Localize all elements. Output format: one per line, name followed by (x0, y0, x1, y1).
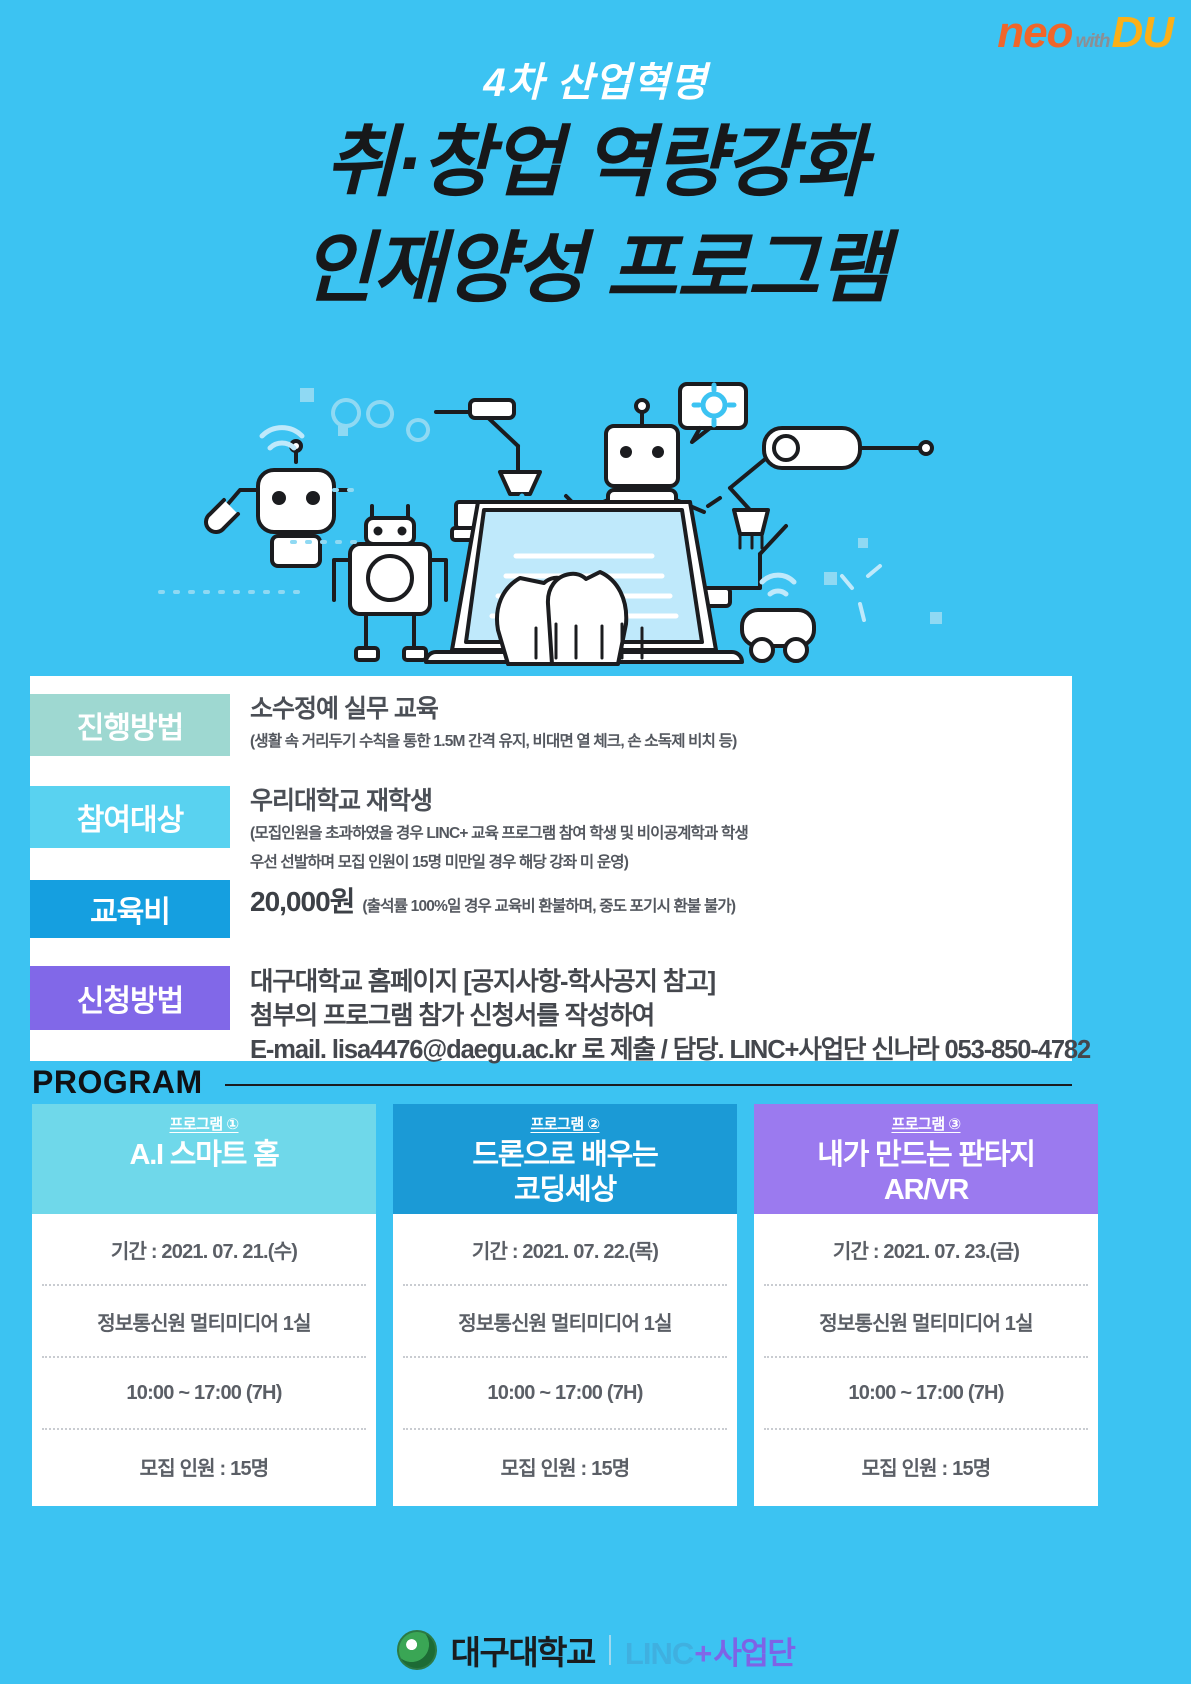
program-card-1-period: 기간 : 2021. 07. 21.(수) (42, 1214, 366, 1286)
info-sub-method: (생활 속 거리두기 수칙을 통한 1.5M 간격 유지, 비대면 열 체크, … (250, 730, 736, 754)
program-card-1-body: 기간 : 2021. 07. 21.(수) 정보통신원 멀티미디어 1실 10:… (32, 1214, 376, 1506)
program-card-3-body: 기간 : 2021. 07. 23.(금) 정보통신원 멀티미디어 1실 10:… (754, 1214, 1098, 1506)
program-card-2-header: 프로그램 ② 드론으로 배우는 코딩세상 (393, 1104, 737, 1214)
program-card-2-title-line2: 코딩세상 (514, 1174, 616, 1206)
university-emblem-icon (397, 1630, 437, 1670)
program-card-2-title-line1: 드론으로 배우는 (472, 1139, 657, 1171)
program-card-2-body: 기간 : 2021. 07. 22.(목) 정보통신원 멀티미디어 1실 10:… (393, 1214, 737, 1506)
info-tag-apply: 신청방법 (30, 966, 230, 1030)
info-tag-fee: 교육비 (30, 880, 230, 938)
info-row-target: 참여대상 우리대학교 재학생 (모집인원을 초과하였을 경우 LINC+ 교육 … (30, 786, 748, 875)
program-heading-rule (225, 1084, 1072, 1086)
program-card-3-title-line2: AR/VR (884, 1174, 968, 1206)
info-body-apply: 대구대학교 홈페이지 [공지사항-학사공지 참고] 첨부의 프로그램 참가 신청… (230, 966, 1090, 1068)
logo-neo-text: neo (997, 8, 1072, 58)
info-row-apply: 신청방법 대구대학교 홈페이지 [공지사항-학사공지 참고] 첨부의 프로그램 … (30, 966, 1090, 1068)
program-card-3-header: 프로그램 ③ 내가 만드는 판타지 AR/VR (754, 1104, 1098, 1214)
info-body-target: 우리대학교 재학생 (모집인원을 초과하였을 경우 LINC+ 교육 프로그램 … (230, 786, 748, 875)
program-card-2-time: 10:00 ~ 17:00 (7H) (403, 1358, 727, 1430)
info-panel: 진행방법 소수정예 실무 교육 (생활 속 거리두기 수칙을 통한 1.5M 간… (30, 676, 1072, 1061)
footer-logos: 대구대학교 LINC + 사업단 (0, 1626, 1191, 1674)
program-card-list: 프로그램 ① A.I 스마트 홈 기간 : 2021. 07. 21.(수) 정… (32, 1104, 1160, 1506)
program-card-1-quota: 모집 인원 : 15명 (42, 1430, 366, 1502)
program-card-2-title: 드론으로 배우는 코딩세상 (472, 1138, 657, 1208)
program-card-1[interactable]: 프로그램 ① A.I 스마트 홈 기간 : 2021. 07. 21.(수) 정… (32, 1104, 376, 1506)
info-sub-target-line2: 우선 선발하며 모집 인원이 15명 미만일 경우 해당 강좌 미 운영) (250, 851, 748, 875)
neo-with-du-logo: neo with DU (997, 8, 1173, 58)
apply-line-2: 첨부의 프로그램 참가 신청서를 작성하여 (250, 1000, 1090, 1034)
program-card-1-title: A.I 스마트 홈 (129, 1138, 278, 1173)
program-heading-text: PROGRAM (32, 1064, 203, 1101)
poster-root: neo with DU 4차 산업혁명 취·창업 역량강화 인재양성 프로그램 (0, 0, 1191, 1684)
info-row-method: 진행방법 소수정예 실무 교육 (생활 속 거리두기 수칙을 통한 1.5M 간… (30, 694, 736, 756)
program-card-1-place: 정보통신원 멀티미디어 1실 (42, 1286, 366, 1358)
footer-university-name: 대구대학교 (451, 1626, 595, 1674)
program-card-1-header: 프로그램 ① A.I 스마트 홈 (32, 1104, 376, 1214)
info-body-fee: 20,000원 (출석률 100%일 경우 교육비 환불하며, 중도 포기시 환… (230, 880, 735, 920)
info-sub-target-line1: (모집인원을 초과하였을 경우 LINC+ 교육 프로그램 참여 학생 및 비이… (250, 822, 748, 846)
program-section-heading: PROGRAM (32, 1064, 1072, 1101)
program-card-3-place: 정보통신원 멀티미디어 1실 (764, 1286, 1088, 1358)
program-card-2-place: 정보통신원 멀티미디어 1실 (403, 1286, 727, 1358)
info-row-fee: 교육비 20,000원 (출석률 100%일 경우 교육비 환불하며, 중도 포… (30, 880, 735, 938)
program-card-3-quota: 모집 인원 : 15명 (764, 1430, 1088, 1502)
program-card-2-period: 기간 : 2021. 07. 22.(목) (403, 1214, 727, 1286)
title-line-2: 인재양성 프로그램 (0, 222, 1191, 314)
apply-line-3: E-mail. lisa4476@daegu.ac.kr 로 제출 / 담당. … (250, 1034, 1090, 1068)
footer-divider (609, 1635, 611, 1665)
footer-team-text: 사업단 (713, 1628, 794, 1673)
info-tag-method: 진행방법 (30, 694, 230, 756)
footer-linc-text: LINC (625, 1636, 693, 1672)
program-card-1-kicker: 프로그램 ① (169, 1113, 238, 1134)
fee-note: (출석률 100%일 경우 교육비 환불하며, 중도 포기시 환불 불가) (362, 894, 735, 916)
linc-plus-logo: LINC + 사업단 (625, 1628, 795, 1673)
poster-title-block: 4차 산업혁명 취·창업 역량강화 인재양성 프로그램 (0, 62, 1191, 314)
program-card-3-period: 기간 : 2021. 07. 23.(금) (764, 1214, 1088, 1286)
title-eyebrow: 4차 산업혁명 (0, 62, 1191, 104)
program-card-3[interactable]: 프로그램 ③ 내가 만드는 판타지 AR/VR 기간 : 2021. 07. 2… (754, 1104, 1098, 1506)
logo-with-text: with (1075, 31, 1109, 53)
program-card-2-kicker: 프로그램 ② (530, 1113, 599, 1134)
footer-plus-text: + (694, 1636, 712, 1672)
fee-amount: 20,000원 (250, 880, 354, 920)
fee-line: 20,000원 (출석률 100%일 경우 교육비 환불하며, 중도 포기시 환… (250, 880, 735, 920)
info-body-method: 소수정예 실무 교육 (생활 속 거리두기 수칙을 통한 1.5M 간격 유지,… (230, 694, 736, 754)
program-card-3-kicker: 프로그램 ③ (891, 1113, 960, 1134)
program-card-3-title-line1: 내가 만드는 판타지 (817, 1139, 1035, 1171)
info-tag-target: 참여대상 (30, 786, 230, 848)
title-line-1: 취·창업 역량강화 (0, 116, 1191, 208)
apply-line-1: 대구대학교 홈페이지 [공지사항-학사공지 참고] (250, 966, 1090, 1000)
program-card-2-quota: 모집 인원 : 15명 (403, 1430, 727, 1502)
program-card-3-title: 내가 만드는 판타지 AR/VR (817, 1138, 1035, 1208)
program-card-1-time: 10:00 ~ 17:00 (7H) (42, 1358, 366, 1430)
info-head-target: 우리대학교 재학생 (250, 786, 748, 817)
program-card-3-time: 10:00 ~ 17:00 (7H) (764, 1358, 1088, 1430)
program-card-2[interactable]: 프로그램 ② 드론으로 배우는 코딩세상 기간 : 2021. 07. 22.(… (393, 1104, 737, 1506)
logo-du-text: DU (1111, 8, 1173, 58)
robotics-illustration (0, 360, 1191, 680)
info-head-method: 소수정예 실무 교육 (250, 694, 736, 725)
